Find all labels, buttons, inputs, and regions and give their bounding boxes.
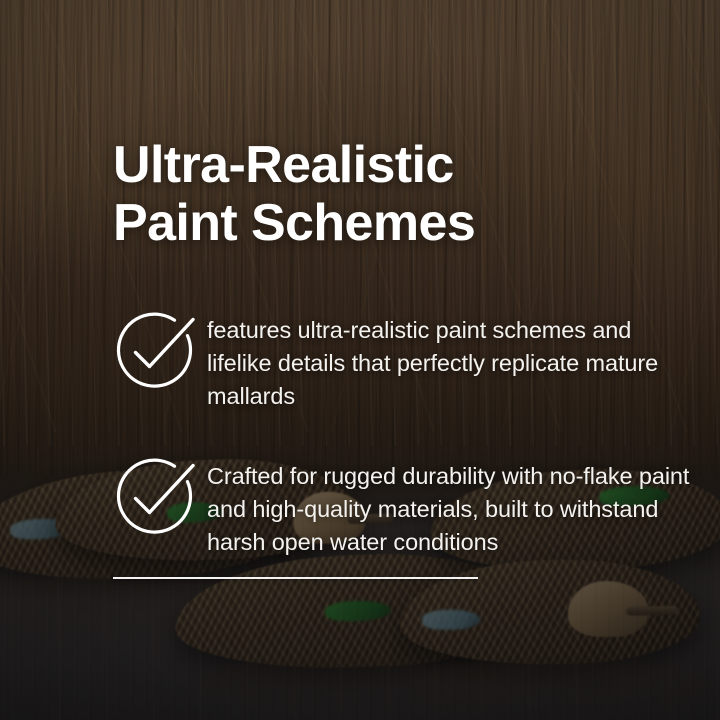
headline-line-2: Paint Schemes [113,194,673,252]
list-item-text: features ultra-realistic paint schemes a… [207,305,693,413]
check-circle-icon [113,307,199,393]
page-title: Ultra-Realistic Paint Schemes [113,136,673,252]
feature-list: features ultra-realistic paint schemes a… [113,305,693,559]
list-item: Crafted for rugged durability with no-fl… [113,451,693,559]
promo-image: Ultra-Realistic Paint Schemes features u… [0,0,720,720]
content-layer: Ultra-Realistic Paint Schemes features u… [0,0,720,720]
horizontal-divider [113,577,478,579]
list-item-text: Crafted for rugged durability with no-fl… [207,451,693,559]
list-item: features ultra-realistic paint schemes a… [113,305,693,413]
check-circle-icon [113,453,199,539]
headline-line-1: Ultra-Realistic [113,136,673,194]
